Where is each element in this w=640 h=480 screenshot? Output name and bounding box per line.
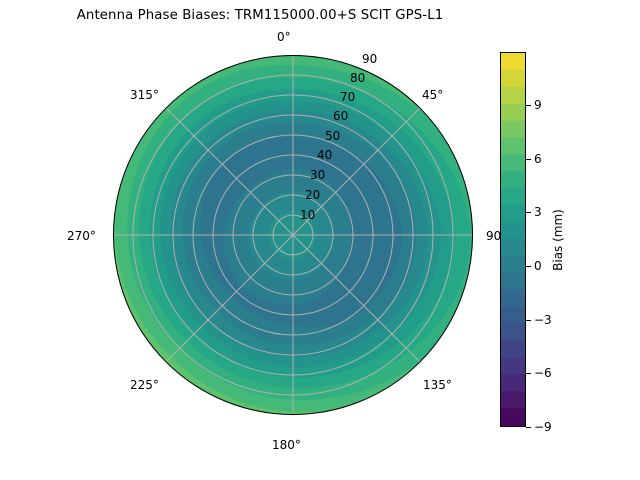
angular-tick-180: 180° [272, 438, 301, 452]
colorbar-tickmark-0 [526, 266, 531, 267]
colorbar-label-6: 6 [534, 152, 542, 166]
radial-tick-30: 30 [310, 168, 325, 182]
polar-plot [113, 55, 473, 415]
colorbar-tickmark-neg9 [526, 427, 531, 428]
colorbar-axis-label: Bias (mm) [548, 52, 568, 427]
page-title: Antenna Phase Biases: TRM115000.00+S SCI… [0, 8, 520, 23]
colorbar-tickmark-neg6 [526, 373, 531, 374]
angular-tick-225: 225° [130, 378, 159, 392]
radial-tick-60: 60 [333, 109, 348, 123]
radial-tick-90: 90 [362, 52, 377, 66]
angular-tick-0: 0° [277, 30, 291, 44]
colorbar-gradient [500, 52, 526, 427]
angular-tick-135: 135° [423, 378, 452, 392]
colorbar-tickmark-neg3 [526, 320, 531, 321]
radial-tick-40: 40 [317, 148, 332, 162]
colorbar-tickmark-3 [526, 212, 531, 213]
colorbar-label-0: 0 [534, 259, 542, 273]
colorbar-label-9: 9 [534, 98, 542, 112]
figure-canvas: Antenna Phase Biases: TRM115000.00+S SCI… [0, 0, 640, 480]
colorbar-tickmark-9 [526, 105, 531, 106]
angular-tick-315: 315° [130, 88, 159, 102]
radial-tick-80: 80 [350, 71, 365, 85]
angular-tick-270: 270° [67, 229, 96, 243]
radial-tick-20: 20 [305, 188, 320, 202]
radial-tick-70: 70 [340, 90, 355, 104]
colorbar-tickmark-6 [526, 159, 531, 160]
polar-heatmap-surface [113, 55, 473, 415]
radial-tick-10: 10 [300, 208, 315, 222]
radial-tick-50: 50 [325, 129, 340, 143]
colorbar: 9 6 3 0 −3 −6 −9 [500, 52, 526, 427]
angular-tick-45: 45° [422, 88, 443, 102]
colorbar-label-3: 3 [534, 205, 542, 219]
colorbar-axis-label-text: Bias (mm) [551, 209, 565, 271]
